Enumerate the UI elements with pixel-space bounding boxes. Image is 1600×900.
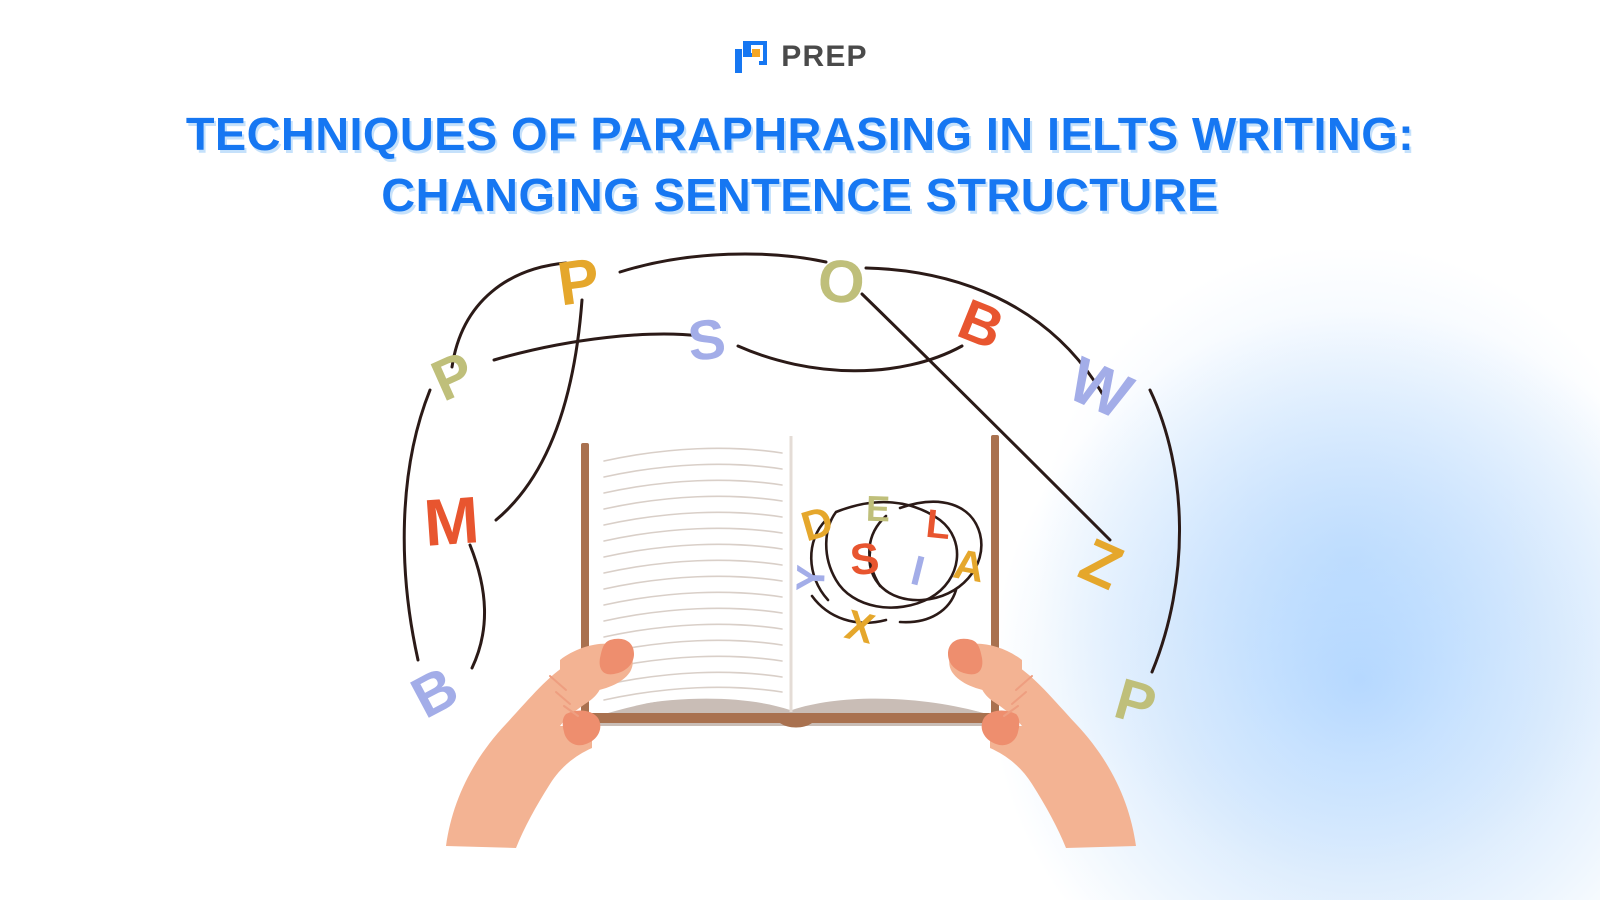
orbit-curve-w-to-p-right	[1150, 390, 1180, 672]
cluster-letter-y: Y	[791, 564, 832, 592]
right-hand-holding-book	[948, 639, 1136, 848]
illustration-svg	[0, 0, 1600, 900]
floating-letter-m: M	[422, 486, 481, 556]
open-book-illustration: P O B S W P M Z B P D E L A S I Y X	[0, 0, 1600, 900]
orbit-curve-r-to-o	[620, 254, 826, 272]
cluster-letter-e: E	[865, 491, 890, 528]
orbit-curve-p-to-s	[494, 334, 700, 360]
right-knuckle-highlight	[982, 711, 1020, 746]
orbit-curve-p-to-r	[452, 263, 566, 367]
floating-letter-o: O	[816, 250, 867, 313]
left-hand-holding-book	[446, 639, 634, 848]
poster-canvas: PREP TECHNIQUES OF PARAPHRASING IN IELTS…	[0, 0, 1600, 900]
cluster-letter-s: S	[849, 537, 881, 583]
orbit-curve-r-to-m	[496, 300, 582, 520]
orbit-curve-m-to-b	[470, 545, 485, 668]
floating-letter-r: P	[554, 249, 604, 316]
cluster-letter-l: L	[924, 504, 952, 546]
floating-letter-s: S	[685, 310, 728, 370]
left-knuckle-highlight	[563, 711, 601, 746]
